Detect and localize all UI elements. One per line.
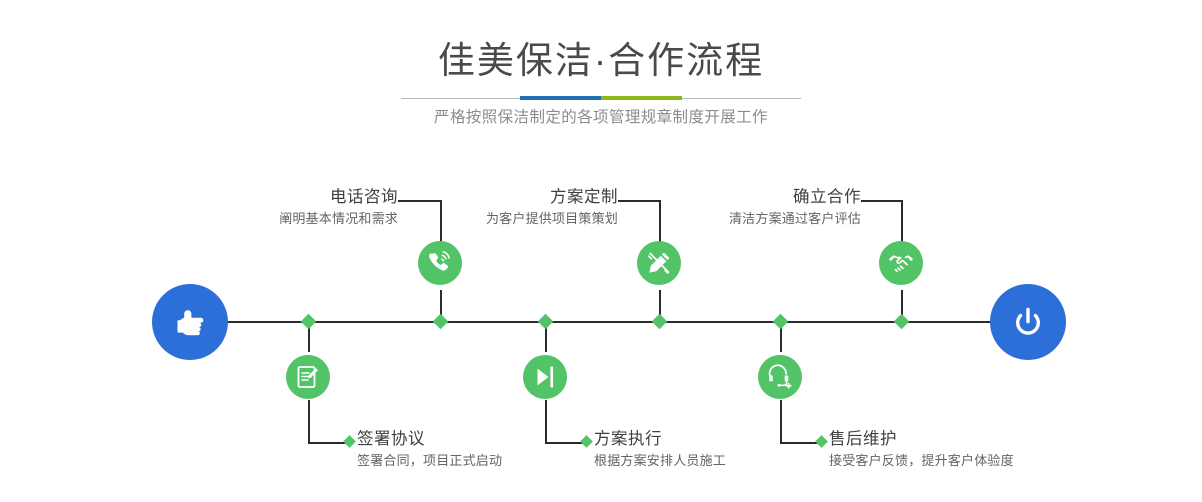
marker-step-4	[538, 314, 554, 330]
connector-step-3-horizontal	[618, 200, 660, 202]
connector-step-5-horizontal	[861, 200, 902, 202]
node-icon-step-6[interactable]	[758, 355, 802, 399]
cooperation-process-infographic: 佳美保洁·合作流程 严格按照保洁制定的各项管理规章制度开展工作	[0, 0, 1202, 502]
timeline: 电话咨询 阐明基本情况和需求 签署协议 签署合同，项目正式启动	[0, 0, 1202, 502]
marker-step-2-end	[343, 435, 356, 448]
connector-step-4-vertical	[545, 400, 547, 443]
marker-step-1	[433, 314, 449, 330]
node-icon-step-5[interactable]	[879, 241, 923, 285]
node-icon-step-4[interactable]	[523, 355, 567, 399]
marker-step-5	[894, 314, 910, 330]
marker-step-6	[773, 314, 789, 330]
node-icon-step-2[interactable]	[286, 355, 330, 399]
label-step-5: 确立合作 清洁方案通过客户评估	[581, 186, 861, 230]
label-step-6-desc: 接受客户反馈，提升客户体验度	[829, 450, 1159, 472]
label-step-3-desc: 为客户提供项目策策划	[338, 208, 618, 230]
marker-step-3	[652, 314, 668, 330]
connector-step-2-vertical	[308, 400, 310, 443]
document-edit-icon	[295, 364, 321, 390]
node-icon-step-1[interactable]	[418, 241, 462, 285]
handshake-icon	[888, 250, 914, 276]
label-step-5-desc: 清洁方案通过客户评估	[581, 208, 861, 230]
timeline-start-node	[152, 284, 228, 360]
label-step-3-title: 方案定制	[338, 186, 618, 208]
label-step-6-title: 售后维护	[829, 428, 1159, 450]
label-step-5-title: 确立合作	[581, 186, 861, 208]
pointing-hand-icon	[170, 302, 210, 342]
label-step-6: 售后维护 接受客户反馈，提升客户体验度	[829, 428, 1159, 472]
play-next-icon	[532, 364, 558, 390]
marker-step-2	[301, 314, 317, 330]
label-step-3: 方案定制 为客户提供项目策策划	[338, 186, 618, 230]
phone-call-icon	[427, 250, 453, 276]
connector-step-1-horizontal	[398, 200, 441, 202]
timeline-axis	[157, 321, 1045, 323]
pencil-ruler-icon	[646, 250, 672, 276]
node-icon-step-3[interactable]	[637, 241, 681, 285]
power-icon	[1008, 302, 1048, 342]
timeline-end-node	[990, 284, 1066, 360]
connector-step-6-vertical	[780, 400, 782, 443]
headset-support-icon	[767, 364, 793, 390]
